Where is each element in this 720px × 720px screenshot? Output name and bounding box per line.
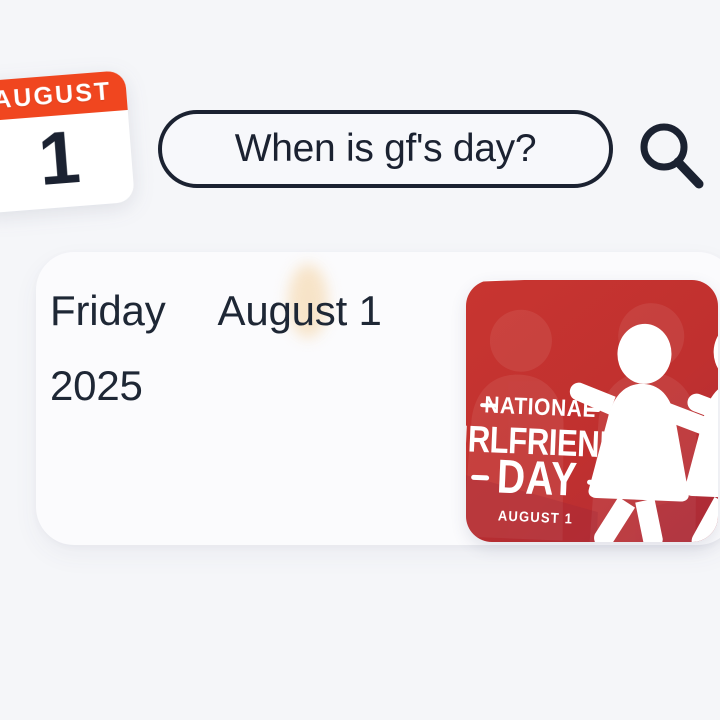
search-icon[interactable] (633, 118, 707, 192)
calendar-month-label: AUGUST (0, 79, 113, 113)
month-day-wrap: August 1 (218, 290, 382, 332)
thumbnail-artwork: NATIONAL GIRLFRIENDS DAY AUGUST 1 (466, 280, 718, 542)
date-primary-line: Friday August 1 (50, 290, 382, 332)
calendar-body: AUGUST 1 (0, 70, 135, 214)
result-month-day: August 1 (218, 287, 382, 334)
calendar-day-number: 1 (0, 106, 135, 210)
search-query-text: When is gf's day? (235, 129, 537, 168)
search-input[interactable]: When is gf's day? (158, 110, 613, 188)
svg-text:AUGUST 1: AUGUST 1 (498, 508, 574, 527)
result-thumbnail[interactable]: NATIONAL GIRLFRIENDS DAY AUGUST 1 (466, 280, 718, 542)
result-weekday: Friday (50, 290, 166, 332)
result-year: 2025 (50, 365, 143, 407)
calendar-icon: AUGUST 1 (0, 70, 135, 214)
svg-text:DAY: DAY (496, 451, 578, 507)
